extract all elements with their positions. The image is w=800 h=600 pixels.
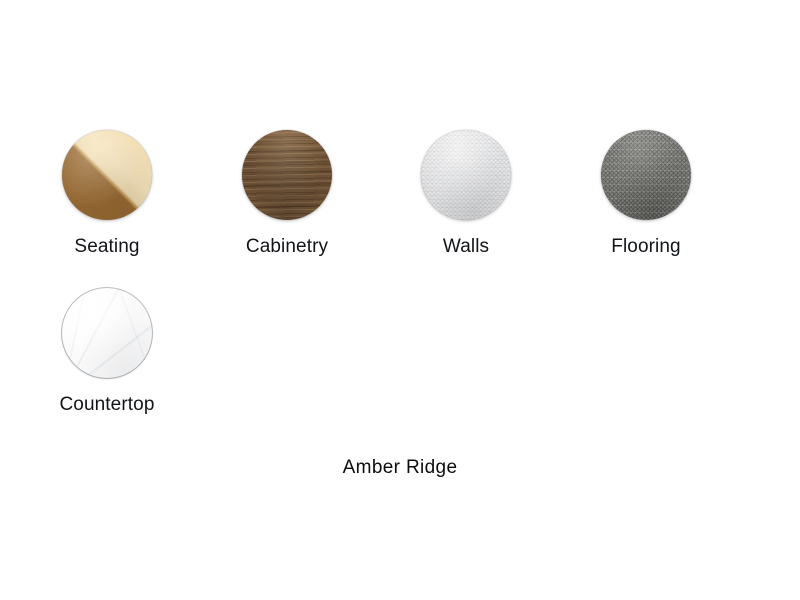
circle-swatch-icon: [62, 130, 152, 220]
circle-swatch-icon: [242, 130, 332, 220]
circle-swatch-icon: [601, 130, 691, 220]
swatch-seating[interactable]: Seating: [37, 130, 177, 258]
swatch-cabinetry[interactable]: Cabinetry: [217, 130, 357, 258]
swatch-label-flooring: Flooring: [576, 236, 716, 258]
swatch-countertop[interactable]: Countertop: [37, 288, 177, 416]
swatch-flooring[interactable]: Flooring: [576, 130, 716, 258]
palette-name: Amber Ridge: [0, 456, 800, 480]
swatch-label-countertop: Countertop: [37, 394, 177, 416]
circle-swatch-icon: [62, 288, 152, 378]
circle-swatch-icon: [421, 130, 511, 220]
swatch-disc-walls[interactable]: [421, 130, 511, 220]
swatch-disc-seating[interactable]: [62, 130, 152, 220]
swatch-walls[interactable]: Walls: [396, 130, 536, 258]
swatch-disc-countertop[interactable]: [62, 288, 152, 378]
swatch-disc-cabinetry[interactable]: [242, 130, 332, 220]
swatch-label-seating: Seating: [37, 236, 177, 258]
swatch-label-cabinetry: Cabinetry: [217, 236, 357, 258]
swatch-disc-flooring[interactable]: [601, 130, 691, 220]
material-palette-board: Seating Cabinetry Walls Flooring: [0, 0, 800, 600]
swatch-label-walls: Walls: [396, 236, 536, 258]
